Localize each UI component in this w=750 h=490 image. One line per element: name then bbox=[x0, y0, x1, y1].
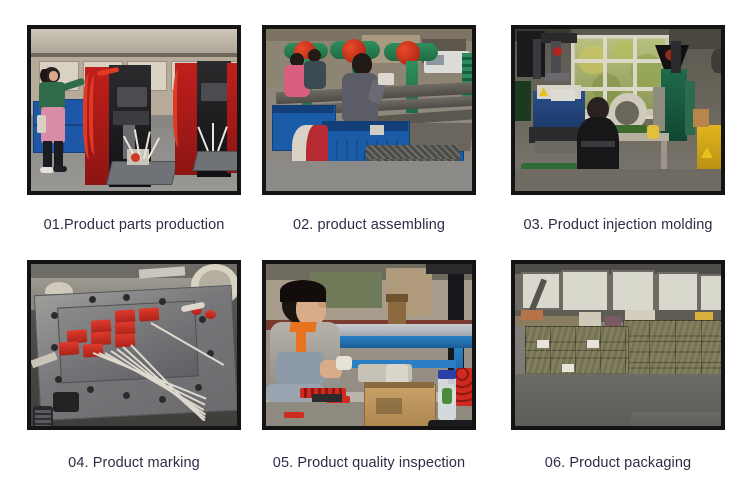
caption-05: 05. Product quality inspection bbox=[262, 455, 476, 472]
photo-product-packaging bbox=[515, 264, 721, 426]
gallery-item-03[interactable]: 03. Product injection molding bbox=[511, 25, 725, 234]
photo-frame-03[interactable] bbox=[511, 25, 725, 195]
caption-03: 03. Product injection molding bbox=[511, 217, 725, 234]
caption-01: 01.Product parts production bbox=[27, 217, 241, 234]
gallery-item-01[interactable]: 01.Product parts production bbox=[27, 25, 241, 234]
caption-02: 02. product assembling bbox=[262, 217, 476, 234]
gallery-item-06[interactable]: 06. Product packaging bbox=[511, 260, 725, 472]
photo-product-parts-production bbox=[31, 29, 237, 191]
photo-product-quality-inspection bbox=[266, 264, 472, 426]
photo-frame-05[interactable] bbox=[262, 260, 476, 430]
gallery-item-04[interactable]: 04. Product marking bbox=[27, 260, 241, 472]
gallery-item-05[interactable]: 05. Product quality inspection bbox=[262, 260, 476, 472]
photo-frame-06[interactable] bbox=[511, 260, 725, 430]
photo-product-marking bbox=[31, 264, 237, 426]
photo-product-injection-molding bbox=[515, 29, 721, 191]
caption-06: 06. Product packaging bbox=[511, 455, 725, 472]
photo-product-assembling bbox=[266, 29, 472, 191]
gallery-item-02[interactable]: 02. product assembling bbox=[262, 25, 476, 234]
photo-frame-04[interactable] bbox=[27, 260, 241, 430]
photo-frame-01[interactable] bbox=[27, 25, 241, 195]
photo-frame-02[interactable] bbox=[262, 25, 476, 195]
caption-04: 04. Product marking bbox=[27, 455, 241, 472]
production-process-gallery: 01.Product parts production bbox=[0, 0, 750, 490]
